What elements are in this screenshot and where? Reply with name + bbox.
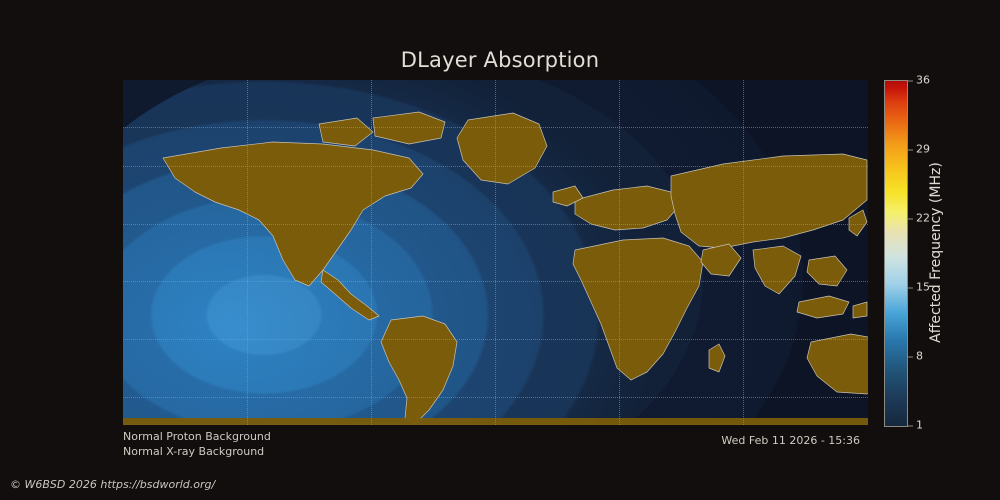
page-title: DLayer Absorption (0, 48, 1000, 72)
copyright-notice: © W6BSD 2026 https://bsdworld.org/ (10, 478, 215, 491)
timestamp: Wed Feb 11 2026 - 15:36 (721, 434, 860, 447)
colorbar-axis-label: Affected Frequency (MHz) (925, 80, 1000, 425)
colorbar-tick-1: 1 (908, 419, 923, 432)
map-panel[interactable]: Max (123, 80, 868, 425)
world-map (123, 80, 868, 425)
colorbar-tick-8: 8 (908, 350, 923, 363)
figure-root: DLayer Absorption (0, 0, 1000, 500)
colorbar-gradient (885, 81, 907, 426)
note-proton-background: Normal Proton Background (123, 430, 271, 443)
colorbar (884, 80, 908, 427)
note-xray-background: Normal X-ray Background (123, 445, 264, 458)
antarctica (123, 418, 868, 425)
